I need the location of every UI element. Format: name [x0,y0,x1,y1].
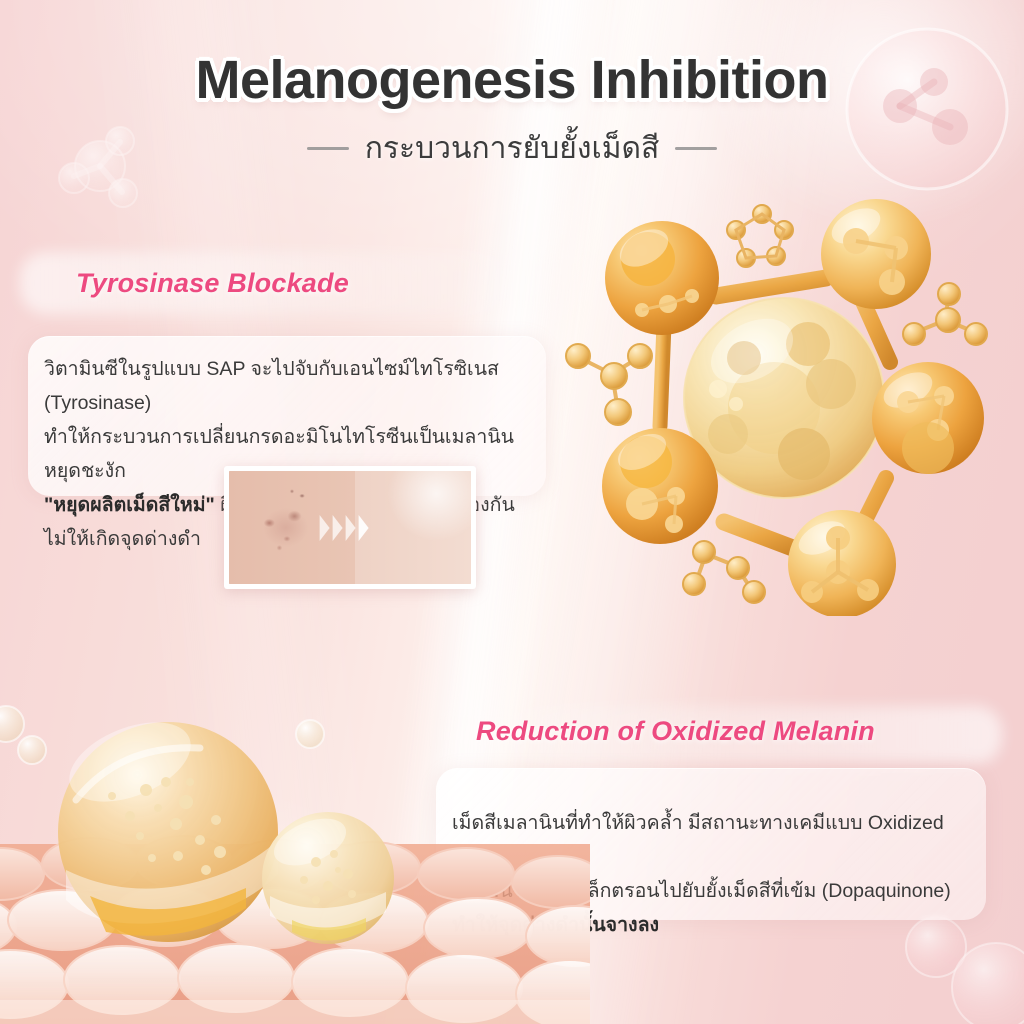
section-1-line-3-bold: "หยุดผลิตเม็ดสีใหม่" [44,494,215,516]
section-1-line-1: วิตามินซีในรูปแบบ SAP จะไปจับกับเอนไซม์ไ… [44,352,544,420]
page-subtitle: กระบวนการยับยั้งเม็ดสี [365,125,660,172]
dash-left-icon [307,147,349,150]
gold-serum-droplets [0,690,450,1024]
section-2-heading: Reduction of Oxidized Melanin [476,716,875,747]
skin-comparison-image [229,471,471,584]
dash-right-icon [675,147,717,150]
chevron-right-icon [320,515,369,541]
section-1-heading: Tyrosinase Blockade [76,268,349,299]
infographic-poster: Melanogenesis Inhibition กระบวนการยับยั้… [0,0,1024,1024]
before-after-skin-inset [224,466,476,589]
poster-header: Melanogenesis Inhibition กระบวนการยับยั้… [0,52,1024,172]
subtitle-row: กระบวนการยับยั้งเม็ดสี [0,125,1024,172]
gold-molecule-cluster [556,186,1016,616]
page-title: Melanogenesis Inhibition [0,52,1024,109]
skin-after-half [355,471,471,584]
